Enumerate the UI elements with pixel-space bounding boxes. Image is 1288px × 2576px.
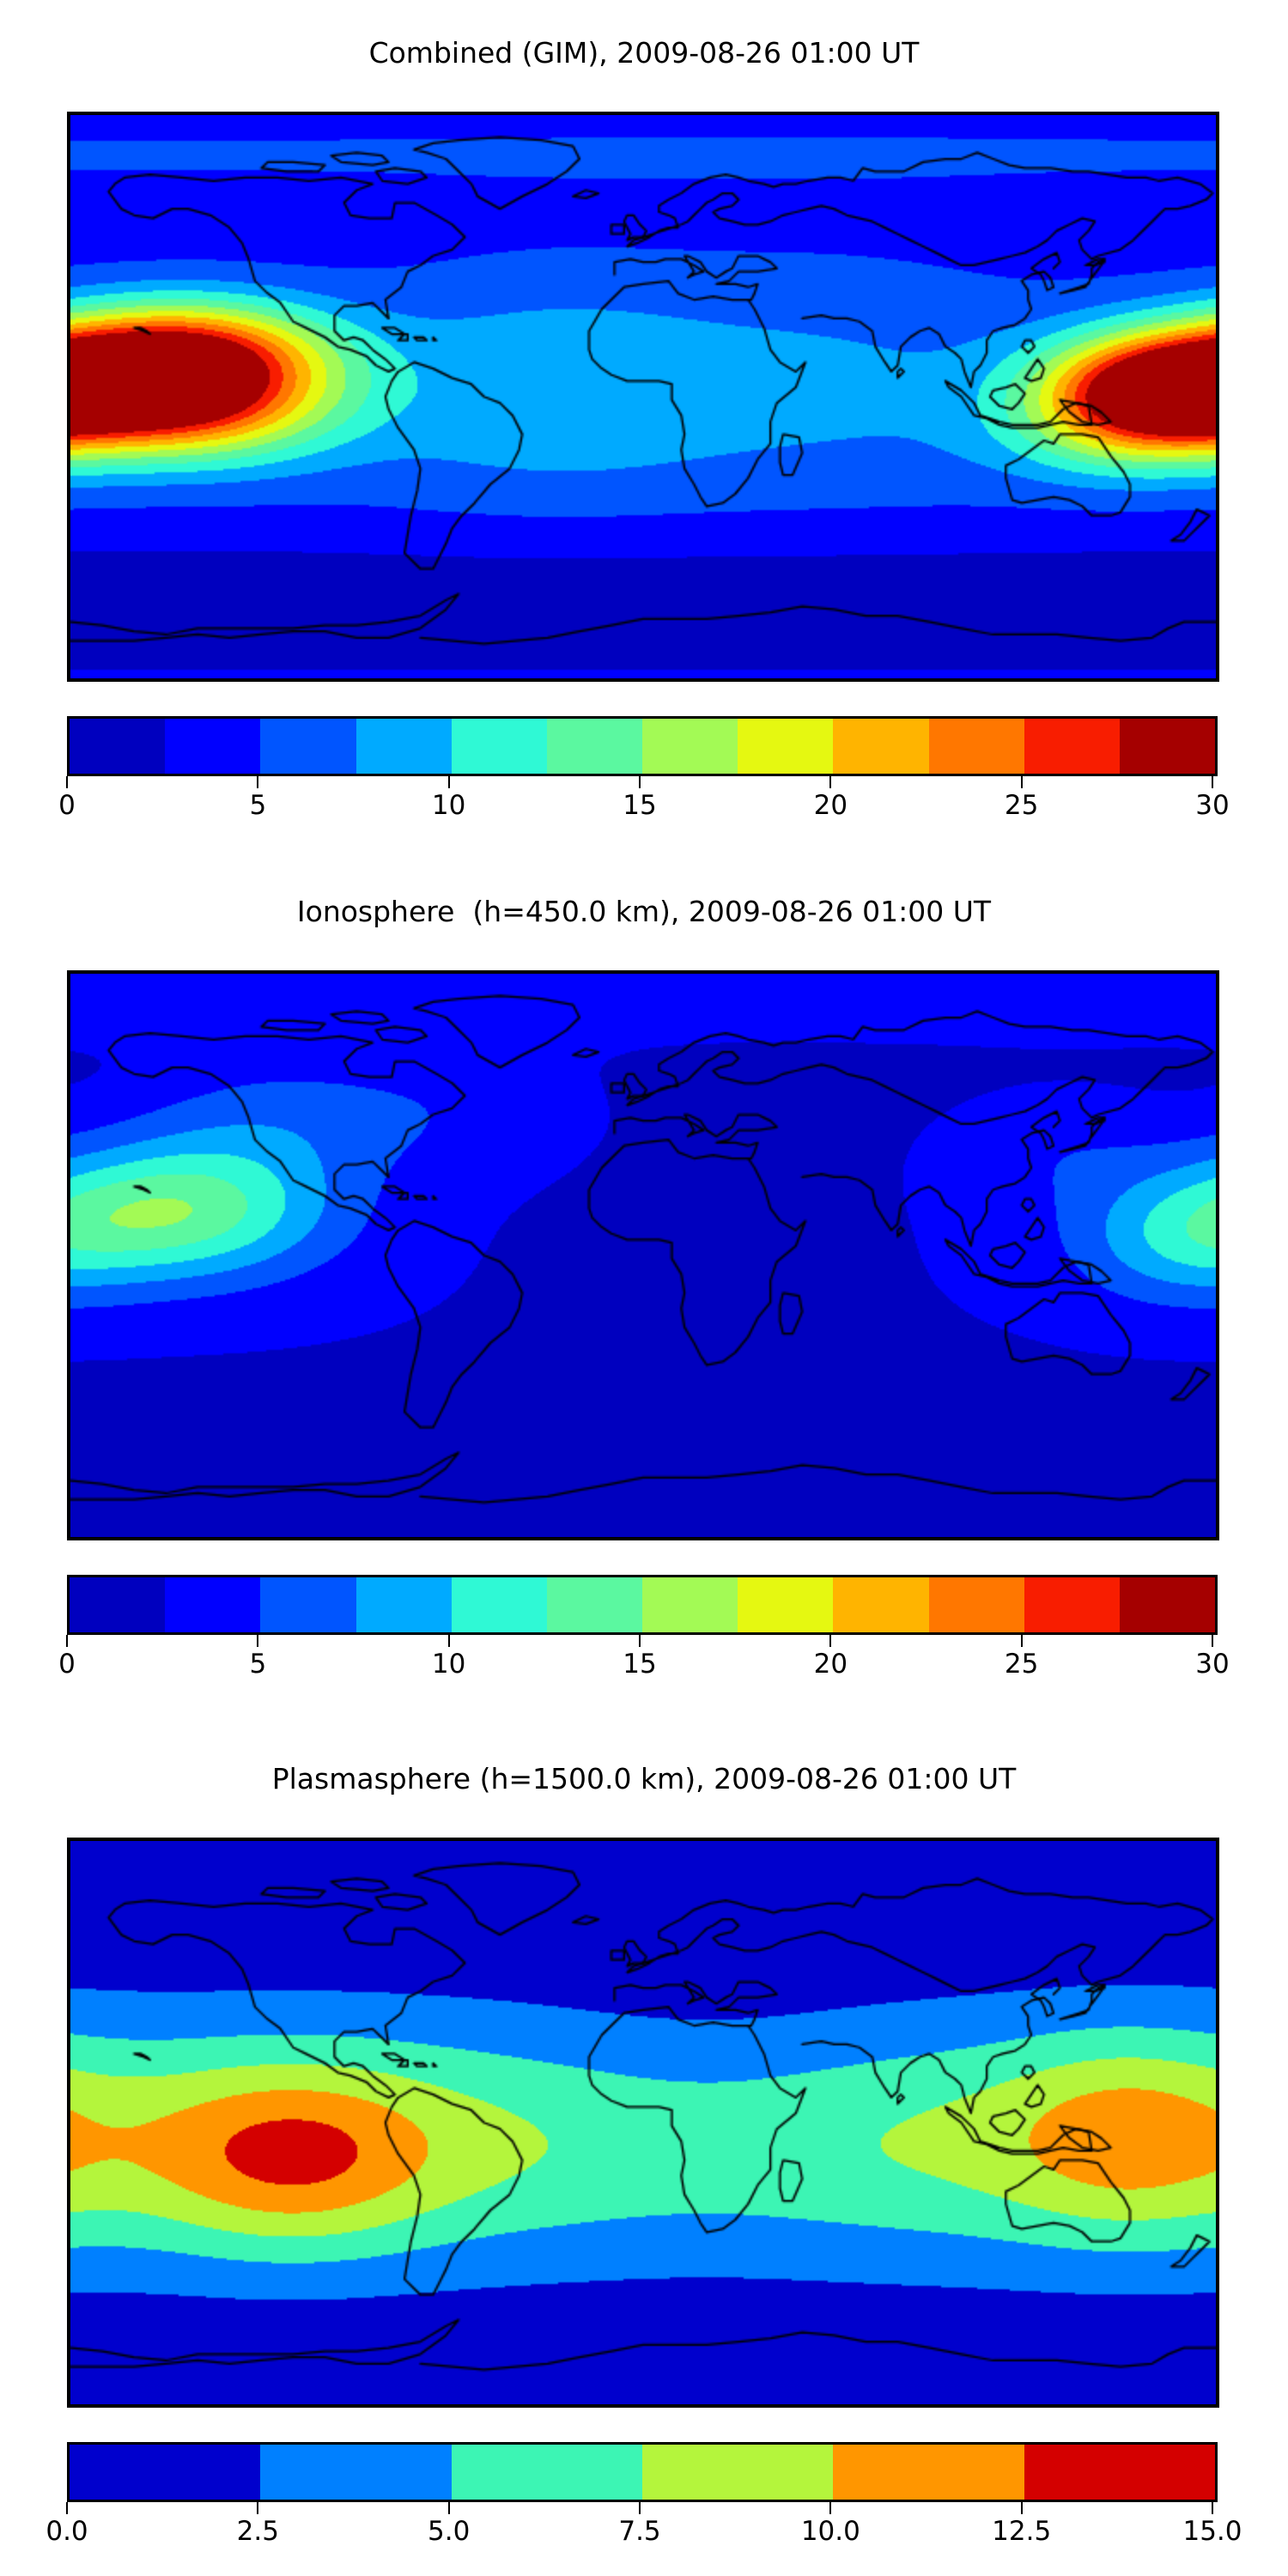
colorbar-band-9: [929, 1577, 1024, 1632]
colorbar-tick-label: 0: [58, 790, 76, 821]
colorbar-tick-label: 20: [814, 790, 848, 821]
panel-title-combined-gim: Combined (GIM), 2009-08-26 01:00 UT: [0, 36, 1288, 70]
colorbar-ionosphere: 051015202530: [67, 1575, 1212, 1686]
colorbar-tick-label: 30: [1195, 1649, 1229, 1680]
colorbar-tick-label: 25: [1005, 1649, 1038, 1680]
colorbar-tick: [1021, 776, 1023, 788]
colorbar-band-2: [260, 719, 355, 774]
colorbar-band-5: [1024, 2445, 1215, 2500]
colorbar-tick-label: 12.5: [992, 2516, 1051, 2547]
colorbar-band-9: [929, 719, 1024, 774]
colorbar-tick-label: 10: [432, 790, 465, 821]
colorbar-band-5: [547, 1577, 642, 1632]
colorbar-tick-labels-plasmasphere: 0.02.55.07.510.012.515.0: [64, 2516, 1215, 2554]
colorbar-tick-label: 5.0: [428, 2516, 470, 2547]
colorbar-tick: [639, 1635, 641, 1647]
map-combined-gim: [67, 112, 1219, 682]
colorbar-tick: [257, 1635, 258, 1647]
colorbar-tick-label: 0: [58, 1649, 76, 1680]
colorbar-band-3: [642, 2445, 833, 2500]
colorbar-band-0: [70, 719, 165, 774]
colorbar-band-10: [1024, 1577, 1120, 1632]
colorbar-tick: [448, 2502, 450, 2514]
colorbar-tick-label: 5: [249, 1649, 266, 1680]
colorbar-tick-label: 15: [623, 790, 656, 821]
colorbar-tick: [66, 2502, 68, 2514]
colorbar-band-5: [547, 719, 642, 774]
panel-title-plasmasphere: Plasmasphere (h=1500.0 km), 2009-08-26 0…: [0, 1762, 1288, 1796]
colorbar-band-4: [452, 719, 547, 774]
colorbar-band-8: [833, 1577, 928, 1632]
colorbar-band-1: [165, 1577, 260, 1632]
colorbar-band-3: [356, 1577, 452, 1632]
colorbar-swatches-plasmasphere: [67, 2442, 1218, 2502]
colorbar-band-4: [833, 2445, 1024, 2500]
colorbar-tick: [829, 2502, 831, 2514]
colorbar-band-1: [260, 2445, 451, 2500]
colorbar-swatches-ionosphere: [67, 1575, 1218, 1635]
colorbar-tick: [448, 776, 450, 788]
colorbar-band-3: [356, 719, 452, 774]
panel-title-ionosphere: Ionosphere (h=450.0 km), 2009-08-26 01:0…: [0, 895, 1288, 929]
colorbar-tick: [66, 1635, 68, 1647]
panel-ionosphere: Ionosphere (h=450.0 km), 2009-08-26 01:0…: [0, 867, 1288, 1726]
colorbar-tick-label: 7.5: [618, 2516, 660, 2547]
colorbar-tick: [829, 776, 831, 788]
colorbar-tick: [829, 1635, 831, 1647]
colorbar-tick-labels-combined-gim: 051015202530: [64, 790, 1215, 828]
colorbar-tick-label: 2.5: [237, 2516, 279, 2547]
map-ionosphere: [67, 970, 1219, 1540]
colorbar-tick: [448, 1635, 450, 1647]
colorbar-band-7: [738, 1577, 833, 1632]
colorbar-tick: [1212, 2502, 1213, 2514]
colorbar-ticks-combined-gim: [64, 776, 1215, 790]
colorbar-band-7: [738, 719, 833, 774]
figure-root: Combined (GIM), 2009-08-26 01:00 UT 0510…: [0, 0, 1288, 2576]
colorbar-tick: [257, 776, 258, 788]
colorbar-tick-label: 5: [249, 790, 266, 821]
colorbar-tick: [1021, 1635, 1023, 1647]
colorbar-band-1: [165, 719, 260, 774]
colorbar-band-6: [642, 1577, 738, 1632]
colorbar-tick-label: 15.0: [1182, 2516, 1242, 2547]
colorbar-band-10: [1024, 719, 1120, 774]
colorbar-tick-label: 30: [1195, 790, 1229, 821]
colorbar-tick-labels-ionosphere: 051015202530: [64, 1649, 1215, 1686]
colorbar-combined-gim: 051015202530: [67, 716, 1212, 828]
colorbar-tick-label: 20: [814, 1649, 848, 1680]
colorbar-band-11: [1120, 1577, 1215, 1632]
colorbar-swatches-combined-gim: [67, 716, 1218, 776]
colorbar-ticks-ionosphere: [64, 1635, 1215, 1649]
colorbar-tick: [1021, 2502, 1023, 2514]
colorbar-tick: [1212, 776, 1213, 788]
colorbar-tick: [66, 776, 68, 788]
colorbar-tick: [1212, 1635, 1213, 1647]
panel-combined-gim: Combined (GIM), 2009-08-26 01:00 UT 0510…: [0, 0, 1288, 859]
colorbar-tick: [639, 2502, 641, 2514]
colorbar-tick: [639, 776, 641, 788]
colorbar-plasmasphere: 0.02.55.07.510.012.515.0: [67, 2442, 1212, 2554]
colorbar-band-0: [70, 1577, 165, 1632]
colorbar-tick-label: 0.0: [46, 2516, 88, 2547]
colorbar-band-6: [642, 719, 738, 774]
colorbar-tick-label: 10: [432, 1649, 465, 1680]
colorbar-band-0: [70, 2445, 260, 2500]
colorbar-band-11: [1120, 719, 1215, 774]
colorbar-tick-label: 25: [1005, 790, 1038, 821]
colorbar-band-8: [833, 719, 928, 774]
colorbar-tick-label: 10.0: [801, 2516, 860, 2547]
colorbar-band-4: [452, 1577, 547, 1632]
map-canvas-combined-gim: [70, 115, 1216, 678]
panel-plasmasphere: Plasmasphere (h=1500.0 km), 2009-08-26 0…: [0, 1735, 1288, 2576]
colorbar-tick: [257, 2502, 258, 2514]
colorbar-ticks-plasmasphere: [64, 2502, 1215, 2516]
colorbar-tick-label: 15: [623, 1649, 656, 1680]
colorbar-band-2: [452, 2445, 642, 2500]
map-canvas-ionosphere: [70, 974, 1216, 1537]
colorbar-band-2: [260, 1577, 355, 1632]
map-plasmasphere: [67, 1838, 1219, 2408]
map-canvas-plasmasphere: [70, 1841, 1216, 2404]
